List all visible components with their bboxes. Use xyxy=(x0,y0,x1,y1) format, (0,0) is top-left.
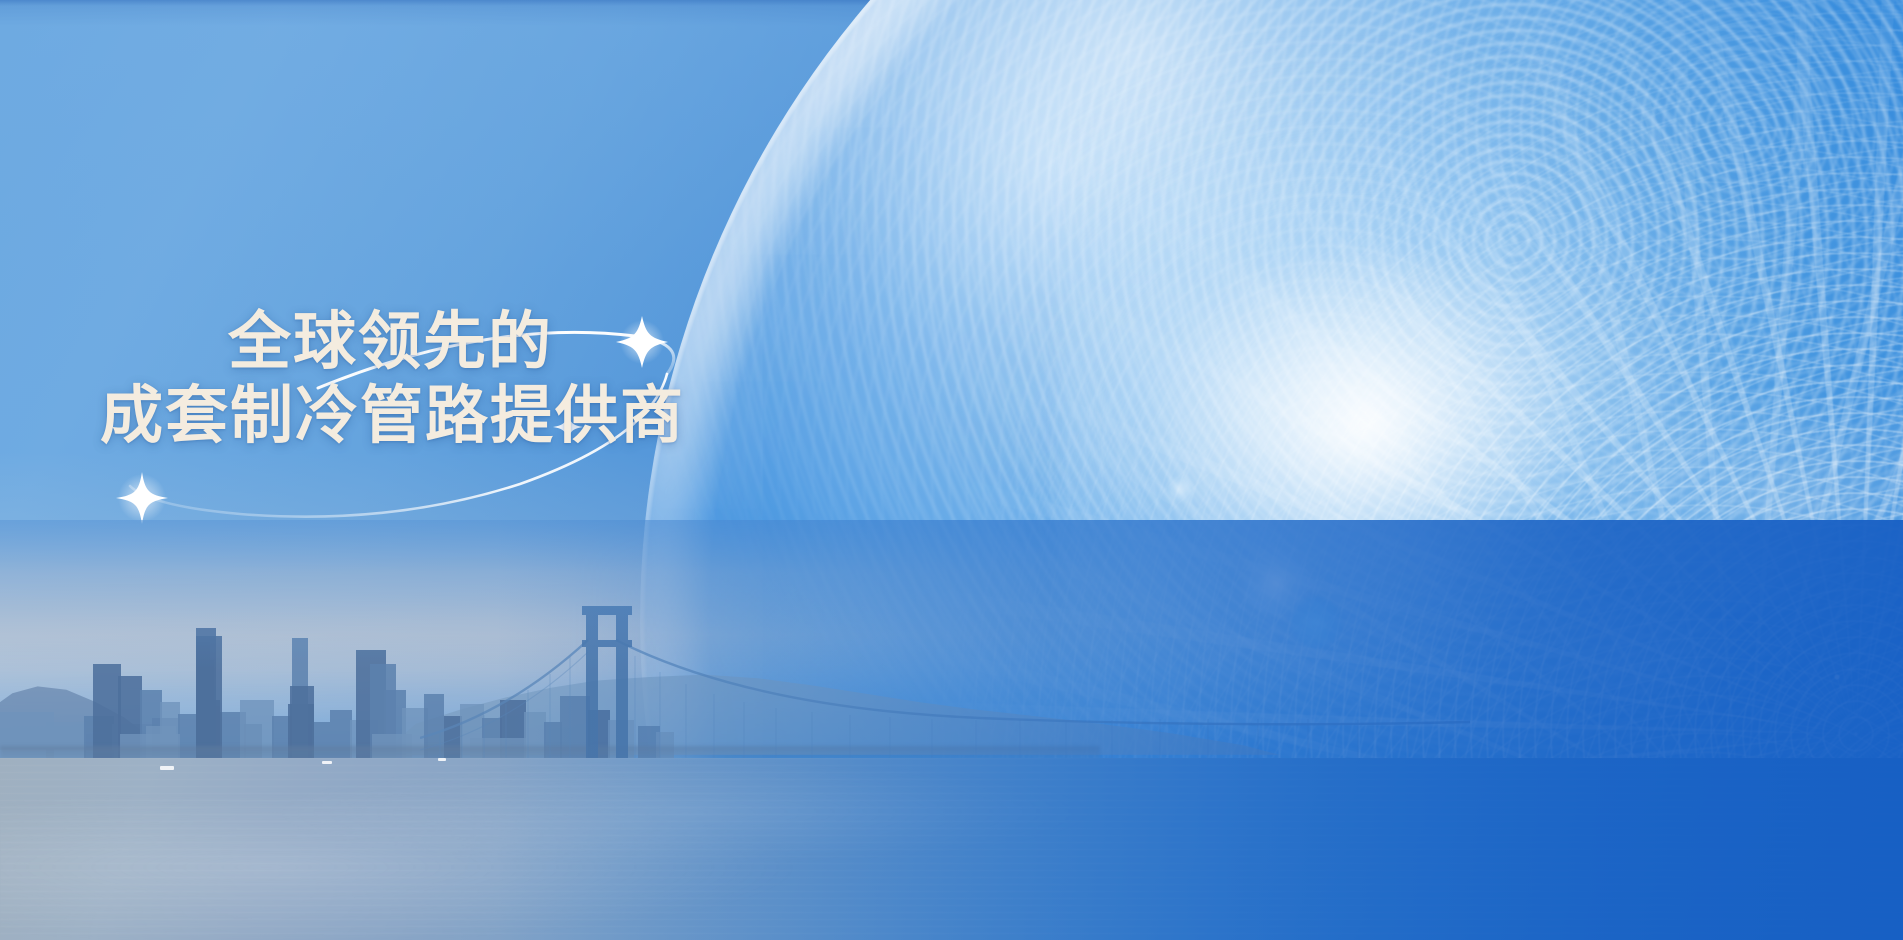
scene-blue-wash xyxy=(0,520,1903,940)
coastal-scene xyxy=(0,520,1903,940)
hero-banner: 全球领先的 成套制冷管路提供商 xyxy=(0,0,1903,940)
headline-line-1: 全球领先的 xyxy=(228,305,860,379)
headline: 全球领先的 成套制冷管路提供商 xyxy=(100,305,860,453)
headline-line-2: 成套制冷管路提供商 xyxy=(100,379,860,453)
